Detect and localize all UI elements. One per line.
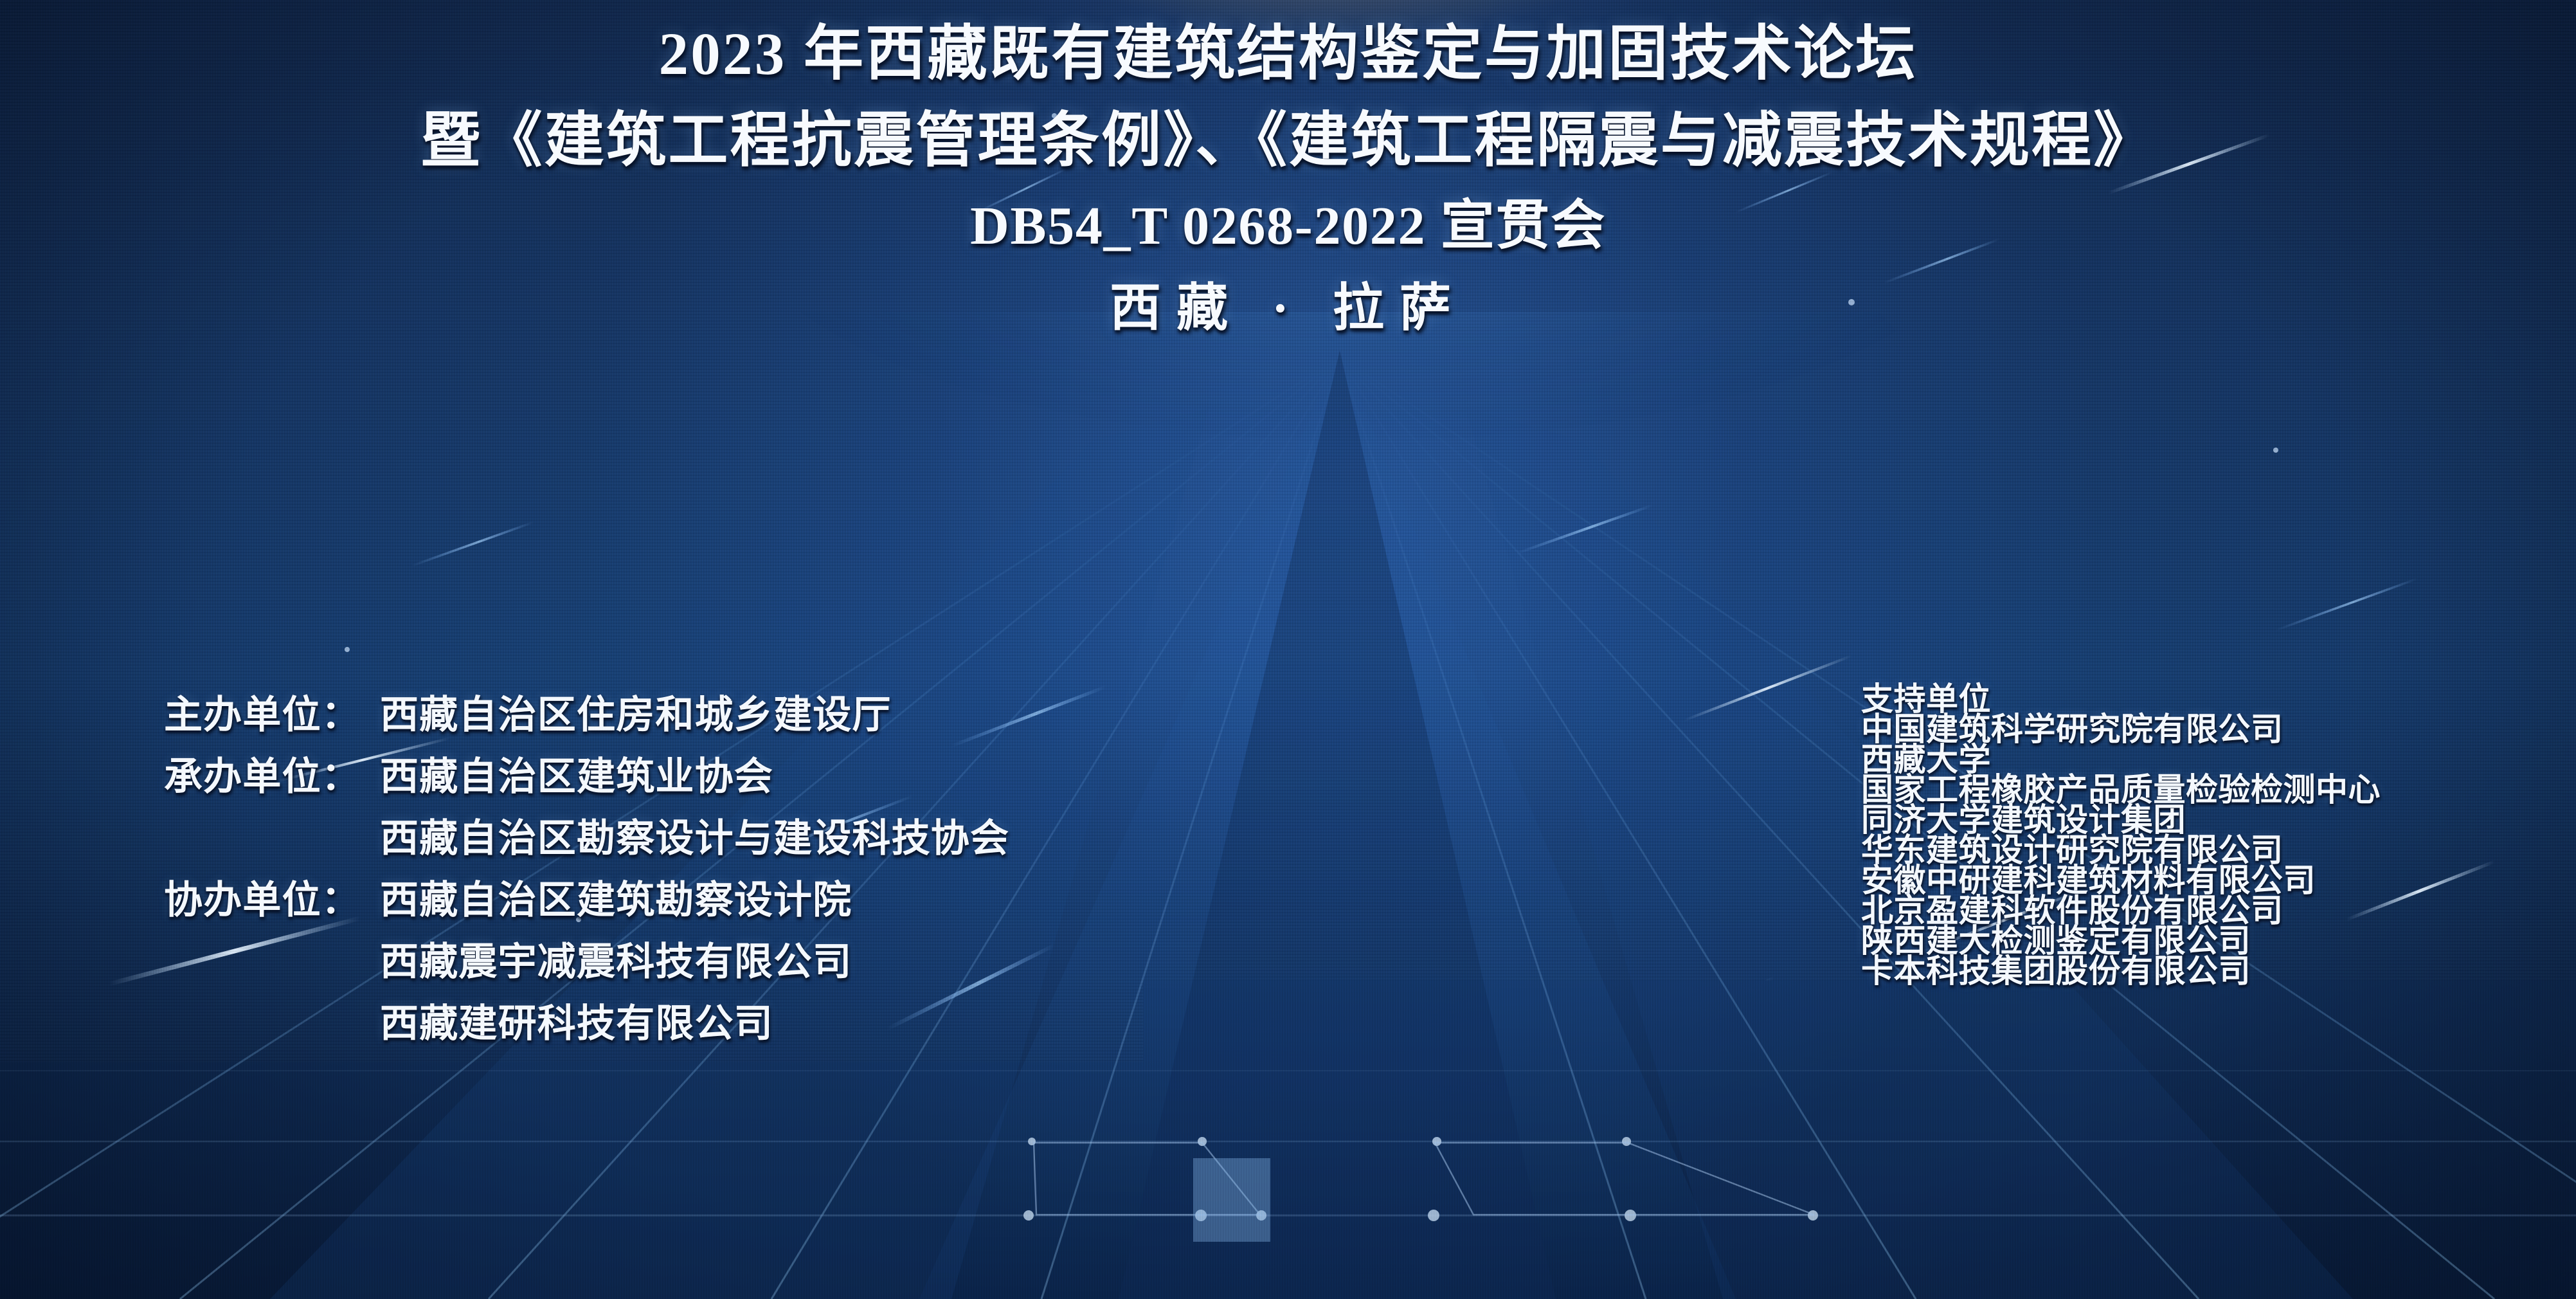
- organizer-label: 主办单位：: [164, 696, 380, 734]
- title-line-1: 2023 年西藏既有建筑结构鉴定与加固技术论坛: [0, 24, 2576, 84]
- supporter-item: 北京盈建科软件股份有限公司: [1861, 895, 2568, 925]
- organizer-row: 协办单位： 西藏自治区建筑勘察设计院: [164, 881, 1257, 943]
- supporter-item: 陕西建大检测鉴定有限公司: [1861, 925, 2568, 955]
- supporter-item: 卡本科技集团股份有限公司: [1861, 955, 2568, 985]
- organizer-value: 西藏自治区建筑业协会: [380, 758, 773, 796]
- supporters-heading: 支持单位: [1861, 683, 2568, 713]
- supporter-item: 同济大学建筑设计集团: [1861, 804, 2568, 834]
- organizer-row: 主办单位： 西藏自治区住房和城乡建设厅: [164, 696, 1257, 758]
- organizer-label: 协办单位：: [164, 881, 380, 920]
- organizer-label: 承办单位：: [164, 758, 380, 796]
- organizer-value: 西藏自治区住房和城乡建设厅: [380, 696, 892, 734]
- supporter-item: 西藏大学: [1861, 743, 2568, 774]
- title-line-4-location: 西藏 · 拉萨: [0, 283, 2576, 334]
- organizer-row: 承办单位： 西藏自治区建筑业协会: [164, 758, 1257, 819]
- supporters-list: 支持单位 中国建筑科学研究院有限公司 西藏大学 国家工程橡胶产品质量检验检测中心…: [1861, 683, 2568, 985]
- organizer-value: 西藏震宇减震科技有限公司: [380, 943, 852, 981]
- banner-text-layer: 2023 年西藏既有建筑结构鉴定与加固技术论坛 暨《建筑工程抗震管理条例》、《建…: [0, 0, 2576, 1299]
- supporter-item: 中国建筑科学研究院有限公司: [1861, 713, 2568, 743]
- conference-backdrop-banner: 2023 年西藏既有建筑结构鉴定与加固技术论坛 暨《建筑工程抗震管理条例》、《建…: [0, 0, 2576, 1299]
- supporter-item: 国家工程橡胶产品质量检验检测中心: [1861, 774, 2568, 804]
- supporter-item: 安徽中研建科建筑材料有限公司: [1861, 864, 2568, 895]
- banner-title-block: 2023 年西藏既有建筑结构鉴定与加固技术论坛 暨《建筑工程抗震管理条例》、《建…: [0, 24, 2576, 334]
- organizer-row: 西藏建研科技有限公司: [164, 1004, 1257, 1066]
- organizers-list: 主办单位： 西藏自治区住房和城乡建设厅 承办单位： 西藏自治区建筑业协会 西藏自…: [164, 696, 1257, 1066]
- title-line-3-standard-code: DB54_T 0268-2022 宣贯会: [0, 199, 2576, 253]
- organizer-value: 西藏自治区勘察设计与建设科技协会: [380, 819, 1009, 858]
- organizer-row: 西藏震宇减震科技有限公司: [164, 943, 1257, 1004]
- supporter-item: 华东建筑设计研究院有限公司: [1861, 834, 2568, 864]
- organizer-row: 西藏自治区勘察设计与建设科技协会: [164, 819, 1257, 881]
- organizer-value: 西藏自治区建筑勘察设计院: [380, 881, 852, 920]
- title-line-2: 暨《建筑工程抗震管理条例》、《建筑工程隔震与减震技术规程》: [0, 111, 2576, 171]
- organizer-value: 西藏建研科技有限公司: [380, 1004, 773, 1043]
